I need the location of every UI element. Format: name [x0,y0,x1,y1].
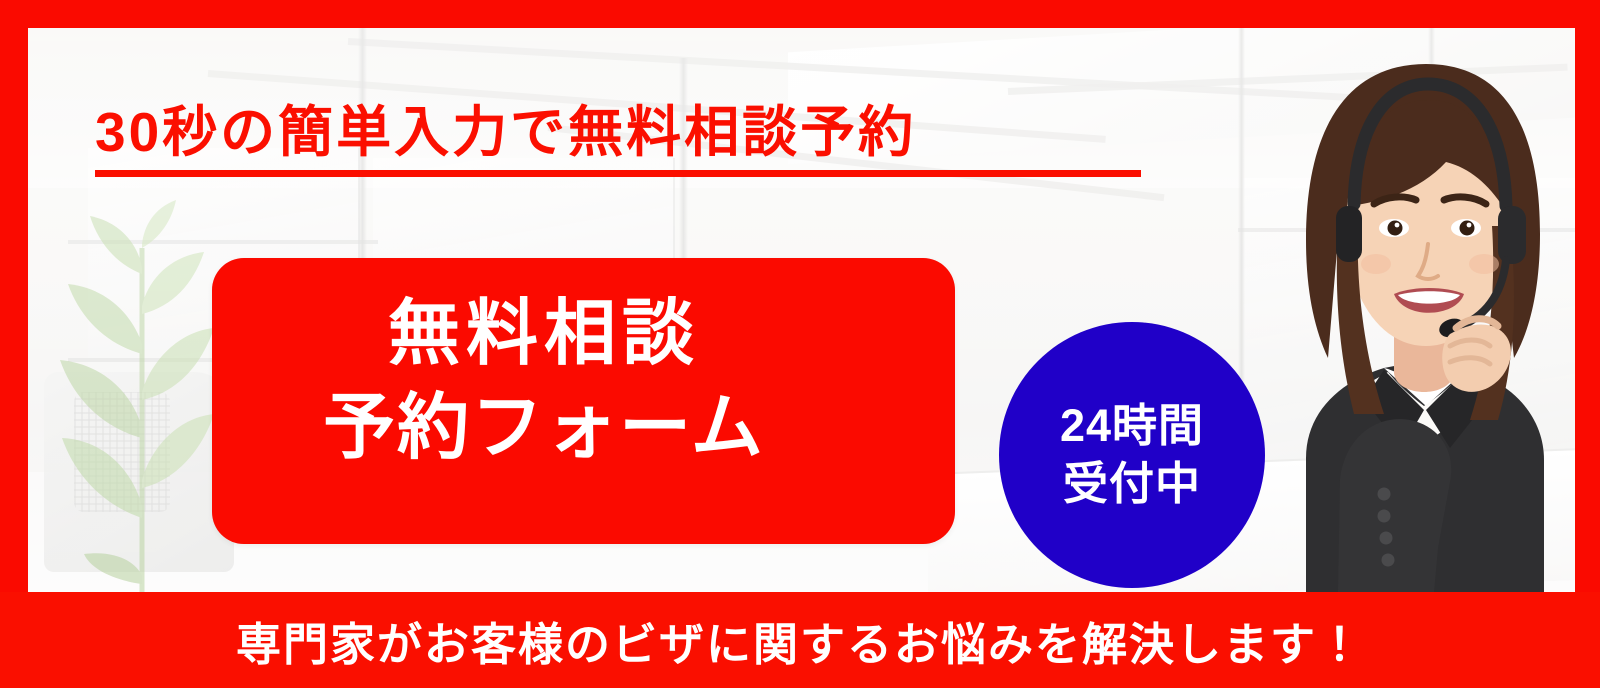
headline-block: 30秒の簡単入力で無料相談予約 [95,103,1155,177]
cta-label-line1: 無料相談 [264,288,824,382]
reservation-form-button[interactable]: 無料相談 予約フォーム [212,258,955,544]
badge-label-line1: 24時間 [1060,397,1204,455]
plant-icon [46,188,226,592]
cta-label-line2: 予約フォーム [264,382,824,476]
tagline-text: 専門家がお客様のビザに関するお悩みを解決します！ [236,608,1364,673]
status-badge[interactable]: 24時間 受付中 [999,322,1265,588]
headline-underline [95,170,1141,177]
cta-button-label: 無料相談 予約フォーム [264,288,824,475]
badge-label-line2: 受付中 [1063,455,1201,513]
page-title: 30秒の簡単入力で無料相談予約 [95,103,1155,162]
promo-banner: 30秒の簡単入力で無料相談予約 無料相談 予約フォーム 24時間 受付中 専門家… [0,0,1600,688]
tagline-band: 専門家がお客様のビザに関するお悩みを解決します！ [0,592,1600,688]
